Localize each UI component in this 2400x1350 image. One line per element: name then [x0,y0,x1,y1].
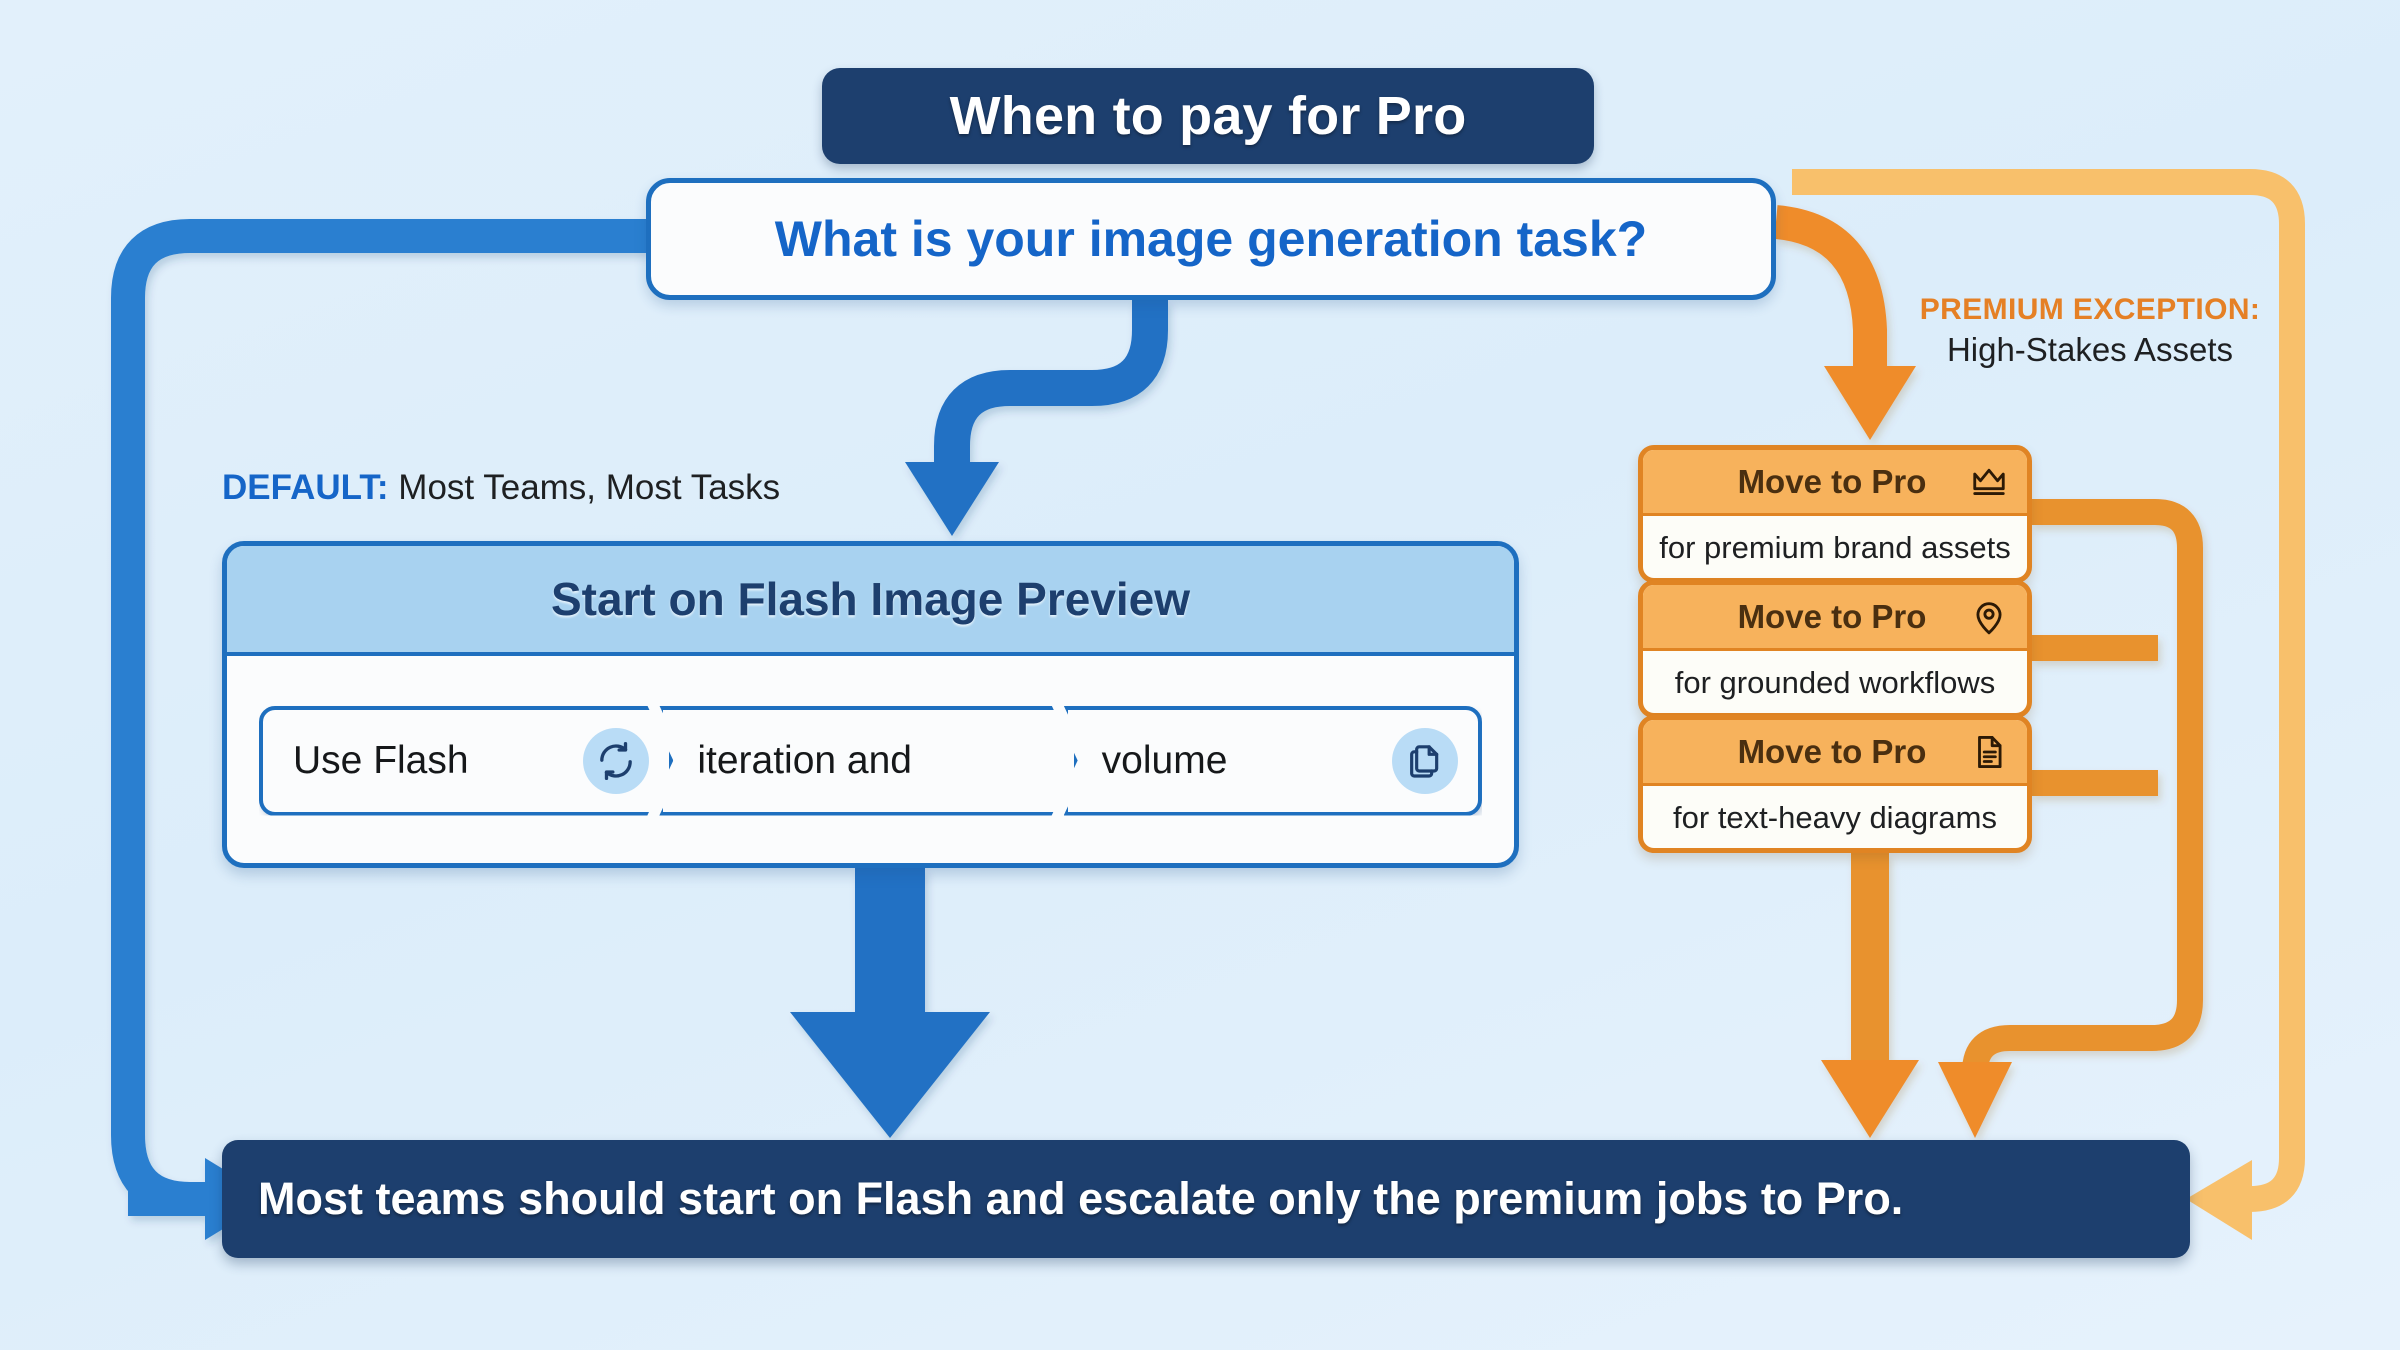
connector-flash-to-banner [790,868,990,1138]
page-title: When to pay for Pro [950,85,1467,147]
flash-step-label: iteration and [697,739,912,783]
default-branch-label-rest: Most Teams, Most Tasks [389,468,781,507]
flash-step-volume[interactable]: volume [1064,706,1482,816]
crown-icon [1967,460,2011,504]
premium-exception-label-sub: High-Stakes Assets [1880,331,2300,370]
copy-documents-icon [1392,728,1458,794]
pro-card-premium-brand-assets[interactable]: Move to Pro for premium brand assets [1638,445,2032,583]
pro-card-subtitle: for text-heavy diagrams [1643,786,2027,850]
pro-card-subtitle: for premium brand assets [1643,516,2027,580]
pro-card-title: Move to Pro [1663,463,1967,501]
flash-card-steps: Use Flash iteration and volume [227,656,1514,865]
pro-card-header: Move to Pro [1643,585,2027,651]
premium-exception-label: PREMIUM EXCEPTION: High-Stakes Assets [1880,292,2300,370]
conclusion-banner-text: Most teams should start on Flash and esc… [258,1173,1903,1225]
document-text-icon [1967,730,2011,774]
connector-pro3-to-banner [1821,853,1919,1138]
connector-question-to-flash [905,300,1150,536]
pro-card-grounded-workflows[interactable]: Move to Pro for grounded workflows [1638,580,2032,718]
flash-step-label: volume [1102,739,1228,783]
flash-step-use-flash[interactable]: Use Flash [259,706,673,816]
pro-card-header: Move to Pro [1643,720,2027,786]
pro-card-text-heavy-diagrams[interactable]: Move to Pro for text-heavy diagrams [1638,715,2032,853]
flash-step-iteration[interactable]: iteration and [659,706,1077,816]
pro-card-subtitle: for grounded workflows [1643,651,2027,715]
diagram-canvas: When to pay for Pro What is your image g… [0,0,2400,1350]
flash-card-header: Start on Flash Image Preview [227,546,1514,656]
default-branch-label-lead: DEFAULT: [222,468,389,507]
conclusion-banner: Most teams should start on Flash and esc… [222,1140,2190,1258]
refresh-sync-icon [583,728,649,794]
decision-question-box: What is your image generation task? [646,178,1776,300]
flash-card-title: Start on Flash Image Preview [551,572,1190,626]
pro-card-header: Move to Pro [1643,450,2027,516]
flash-default-card: Start on Flash Image Preview Use Flash i… [222,541,1519,868]
decision-question-text: What is your image generation task? [775,210,1647,268]
pro-card-title: Move to Pro [1663,733,1967,771]
location-pin-icon [1967,595,2011,639]
pro-card-title: Move to Pro [1663,598,1967,636]
premium-exception-label-lead: PREMIUM EXCEPTION: [1880,292,2300,327]
diagram-title-chip: When to pay for Pro [822,68,1594,164]
default-branch-label: DEFAULT: Most Teams, Most Tasks [222,468,780,508]
flash-step-label: Use Flash [293,739,469,783]
